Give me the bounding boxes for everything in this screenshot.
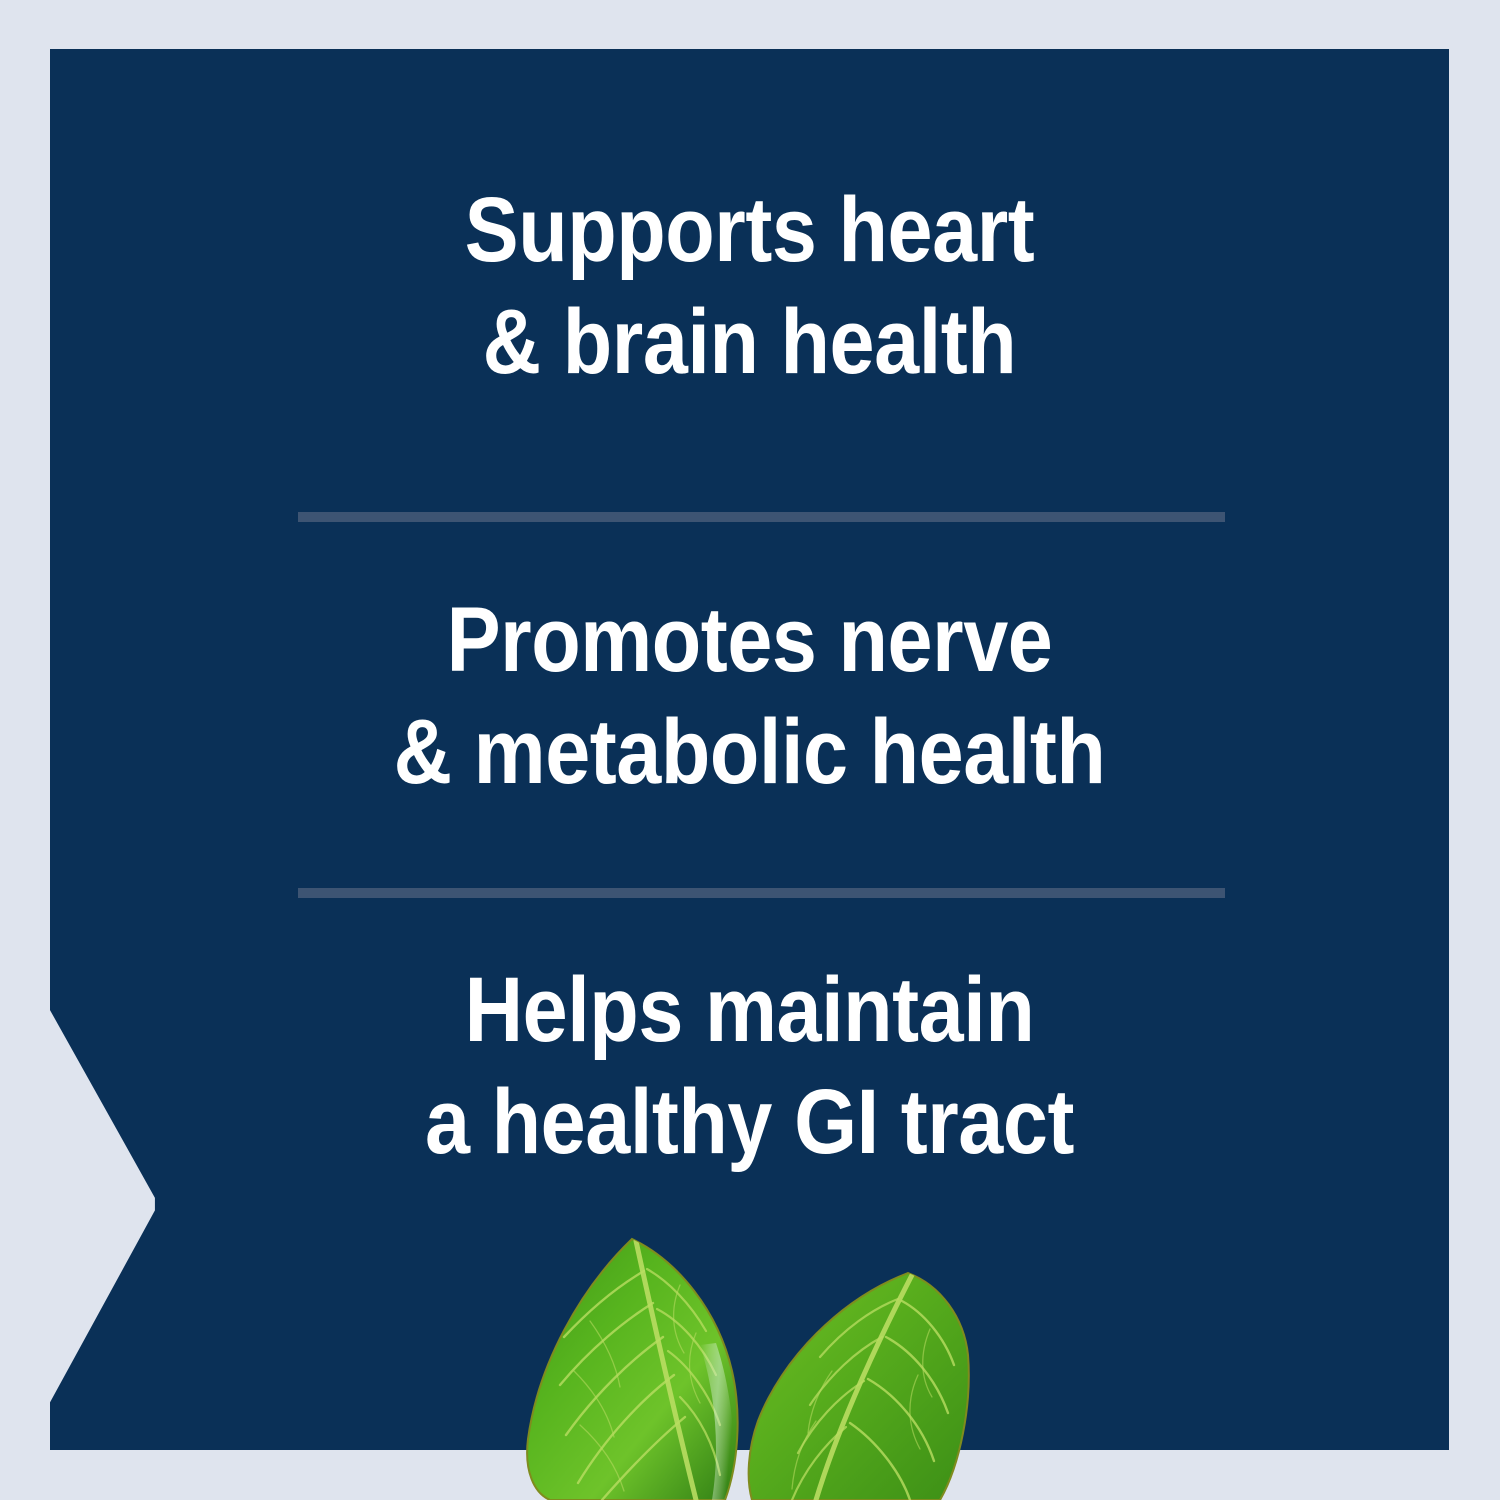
benefit-text-heart-brain: Supports heart & brain health (134, 174, 1365, 398)
product-benefits-panel: Supports heart & brain health Promotes n… (0, 0, 1500, 1500)
benefit-text-nerve-metabolic: Promotes nerve & metabolic health (134, 584, 1365, 808)
benefit-divider-2 (298, 888, 1225, 898)
benefit-divider-1 (298, 512, 1225, 522)
benefit-text-gi-tract: Helps maintain a healthy GI tract (134, 954, 1365, 1178)
benefits-content-column: Supports heart & brain health Promotes n… (50, 49, 1449, 1450)
